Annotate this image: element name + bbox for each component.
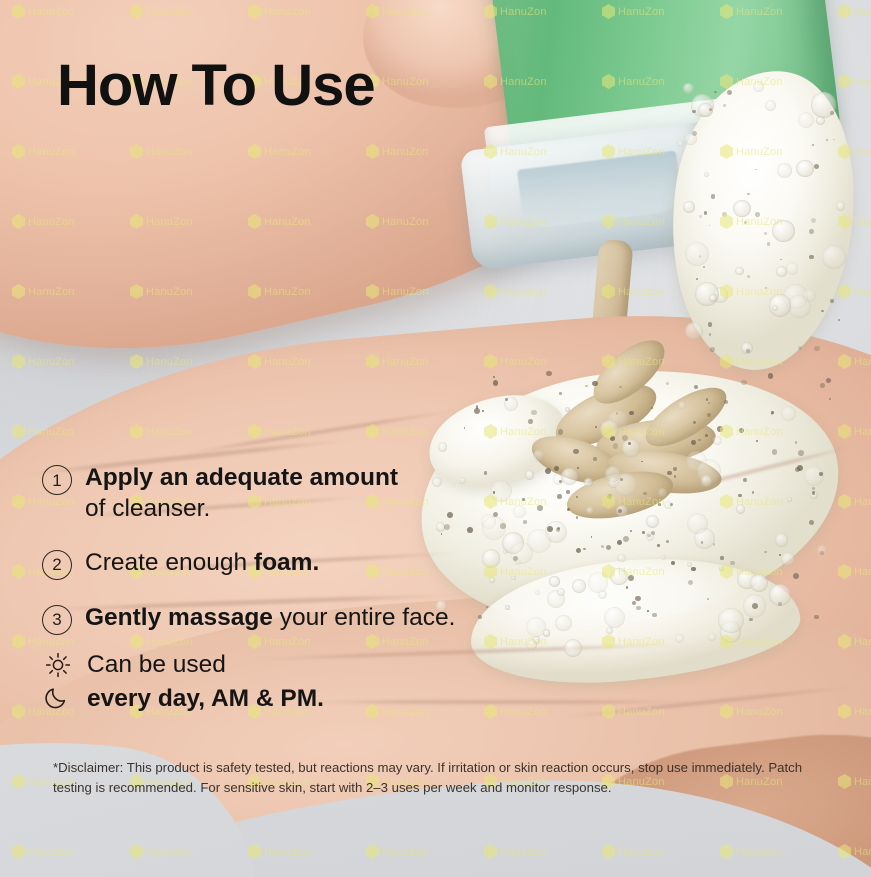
step-1-text: Apply an adequate amount of cleanser. xyxy=(85,462,398,525)
moon-icon xyxy=(45,684,71,710)
usage-icons xyxy=(42,648,74,710)
step-1-line2: of cleanser. xyxy=(85,493,398,524)
usage-line1: Can be used xyxy=(87,651,226,678)
step-2-suffix: foam. xyxy=(254,549,319,576)
step-2: 2 Create enough foam. xyxy=(42,547,562,580)
text-overlay: How To Use 1 Apply an adequate amount of… xyxy=(0,0,871,877)
step-3-text: Gently massage your entire face. xyxy=(85,602,455,633)
usage-line2: every day, AM & PM. xyxy=(87,682,324,716)
sun-icon xyxy=(45,652,71,678)
step-3-prefix: Gently massage xyxy=(85,604,273,631)
step-2-prefix: Create enough xyxy=(85,549,254,576)
step-1-line1: Apply an adequate amount xyxy=(85,464,398,491)
disclaimer-text: *Disclaimer: This product is safety test… xyxy=(53,758,808,799)
page-title: How To Use xyxy=(57,56,375,117)
step-2-number: 2 xyxy=(42,550,72,580)
step-3: 3 Gently massage your entire face. xyxy=(42,602,562,635)
step-2-text: Create enough foam. xyxy=(85,547,319,578)
usage-frequency: Can be used every day, AM & PM. xyxy=(42,648,324,716)
usage-text: Can be used every day, AM & PM. xyxy=(87,648,324,716)
step-1-number: 1 xyxy=(42,465,72,495)
steps-list: 1 Apply an adequate amount of cleanser. … xyxy=(42,462,562,635)
step-1: 1 Apply an adequate amount of cleanser. xyxy=(42,462,562,525)
step-3-number: 3 xyxy=(42,605,72,635)
how-to-use-infographic: HanuZonHanuZonHanuZonHanuZonHanuZonHanuZ… xyxy=(0,0,871,877)
step-3-suffix: your entire face. xyxy=(273,604,455,631)
